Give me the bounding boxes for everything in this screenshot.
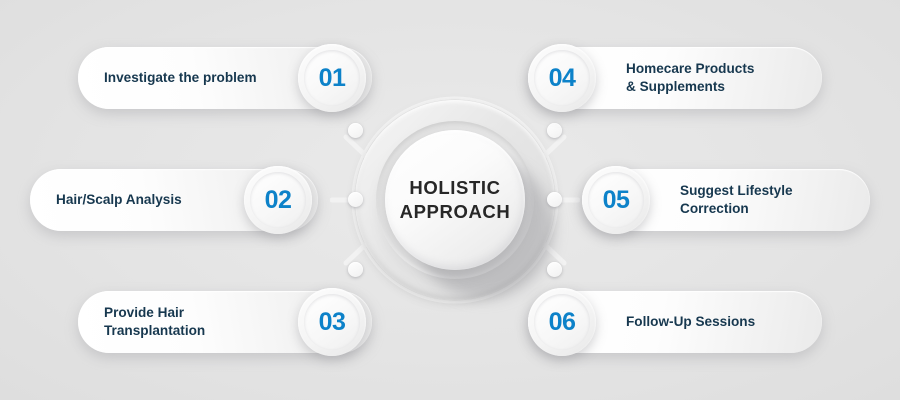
- step-label-03: Provide Hair Transplantation: [104, 304, 205, 340]
- step-number-05: 05: [603, 186, 630, 215]
- hub-node-04: [547, 123, 562, 138]
- step-number-02: 02: [265, 186, 292, 215]
- hub-node-03: [348, 262, 363, 277]
- center-hub: HOLISTIC APPROACH: [330, 75, 580, 325]
- step-label-02: Hair/Scalp Analysis: [56, 191, 182, 209]
- step-badge-05[interactable]: 05: [582, 166, 650, 234]
- step-number-04: 04: [549, 64, 576, 93]
- step-label-05: Suggest Lifestyle Correction: [680, 182, 793, 218]
- step-label-01: Investigate the problem: [104, 69, 257, 87]
- step-badge-04[interactable]: 04: [528, 44, 596, 112]
- infographic-canvas: HOLISTIC APPROACH Investigate the proble…: [0, 0, 900, 400]
- step-label-06: Follow-Up Sessions: [626, 313, 755, 331]
- step-badge-03[interactable]: 03: [298, 288, 366, 356]
- step-badge-02[interactable]: 02: [244, 166, 312, 234]
- hub-node-05: [547, 192, 562, 207]
- hub-node-02: [348, 192, 363, 207]
- hub-core-circle: HOLISTIC APPROACH: [385, 130, 525, 270]
- hub-node-06: [547, 262, 562, 277]
- step-label-04: Homecare Products & Supplements: [626, 60, 754, 96]
- hub-title: HOLISTIC APPROACH: [385, 176, 525, 223]
- step-number-03: 03: [319, 308, 346, 337]
- step-badge-06[interactable]: 06: [528, 288, 596, 356]
- step-number-01: 01: [319, 64, 346, 93]
- step-badge-01[interactable]: 01: [298, 44, 366, 112]
- step-number-06: 06: [549, 308, 576, 337]
- hub-node-01: [348, 123, 363, 138]
